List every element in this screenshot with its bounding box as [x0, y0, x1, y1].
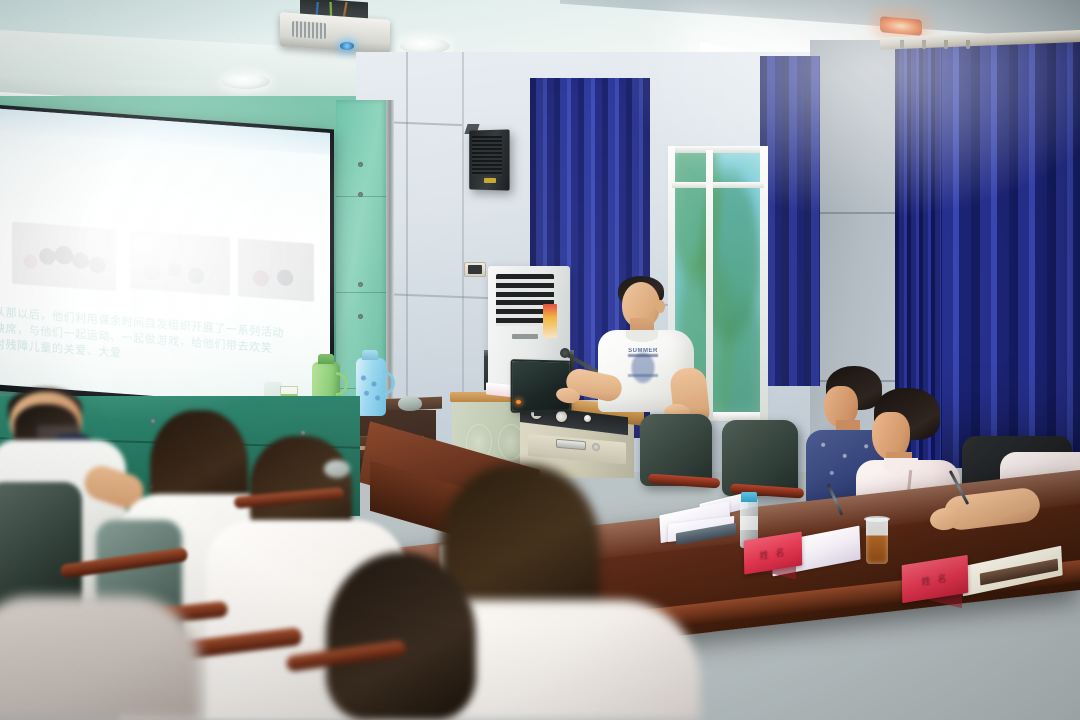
tshirt-print-text: SUMMER [628, 348, 658, 354]
slide-photo-2 [130, 230, 230, 295]
audience-5-head [326, 552, 476, 720]
microphone-icon[interactable] [560, 348, 570, 358]
slide-caption-text: 从那以后，他们利用课余时间自发组织开展了一系列活动 缺席，与他们一起运动、一起做… [0, 304, 324, 376]
tea-glass[interactable] [866, 518, 888, 564]
presenter-ear [656, 300, 665, 313]
speaker-badge [484, 178, 496, 183]
projector-vent [292, 21, 326, 39]
audience-6-body [0, 596, 200, 720]
speaker-grille [472, 136, 502, 176]
curtain-hook [966, 40, 970, 49]
curtain-hook [944, 40, 948, 49]
thermos-cap [362, 350, 378, 360]
ac-energy-label [543, 304, 557, 338]
slide-photo-3 [238, 238, 314, 302]
projector-lens-icon [340, 42, 354, 50]
curtain-hook [900, 40, 904, 49]
presenter-collar [626, 330, 658, 342]
ac-brand-badge [512, 334, 538, 339]
window-mullion [672, 182, 764, 188]
downlight-icon [222, 74, 270, 89]
curtain-hook [922, 40, 926, 49]
projection-screen: 从那以后，他们利用课余时间自发组织开展了一系列活动 缺席，与他们一起运动、一起做… [0, 108, 330, 409]
socket-face [468, 265, 482, 274]
control-indicator-icon [584, 415, 591, 422]
slide-photo-1 [12, 222, 116, 292]
window-frame [668, 146, 768, 153]
nameplate-text: 姓 名 [921, 570, 948, 587]
window-mullion [706, 150, 713, 418]
attendee-2-collar [884, 458, 918, 474]
conference-room-scene: 从那以后，他们利用课余时间自发组织开展了一系列活动 缺席，与他们一起运动、一起做… [0, 0, 1080, 720]
curtain-panel-far [760, 56, 820, 386]
thermos-cap [318, 354, 334, 364]
